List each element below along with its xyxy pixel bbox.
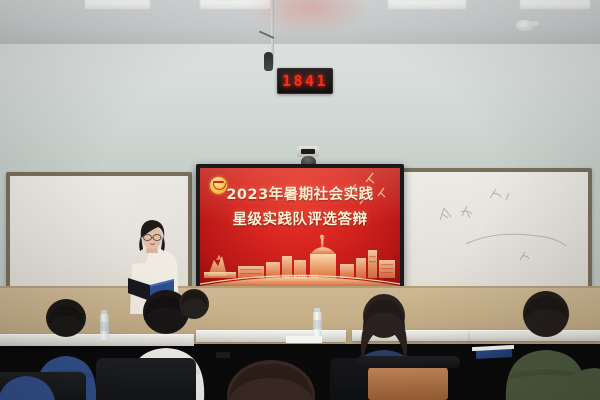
digital-wall-clock: 1841: [277, 68, 333, 94]
projection-screen-surface: 2023年暑期社会实践 星级实践队评选答辩: [200, 168, 400, 286]
screen-date: 2023年10月10日: [200, 274, 400, 280]
projection-screen: 2023年暑期社会实践 星级实践队评选答辩: [196, 164, 404, 290]
bottle-cap: [314, 308, 320, 312]
ceiling-light: [388, 0, 466, 9]
ceiling-glow: [250, 0, 370, 36]
bottle-label: [313, 320, 322, 329]
whiteboard-scribbles: [440, 189, 566, 260]
ceiling-light: [85, 0, 150, 9]
paper-sheet: [286, 336, 322, 343]
office-chair-seat: [368, 366, 448, 400]
office-chair-back: [356, 356, 460, 368]
classroom-scene: 1841: [0, 0, 600, 400]
ceiling-light: [520, 0, 590, 9]
projector-mount-head: [264, 52, 273, 71]
smoke-detector-icon: [516, 20, 534, 31]
screen-title-line-1: 2023年暑期社会实践: [200, 185, 400, 205]
office-chair: [96, 358, 196, 400]
whiteboard-right: [400, 168, 592, 290]
screen-title-block: 2023年暑期社会实践 星级实践队评选答辩: [200, 185, 400, 230]
ceiling: [0, 0, 600, 48]
screen-title-line-2: 星级实践队评选答辩: [200, 210, 400, 230]
clock-time: 1841: [282, 72, 328, 90]
